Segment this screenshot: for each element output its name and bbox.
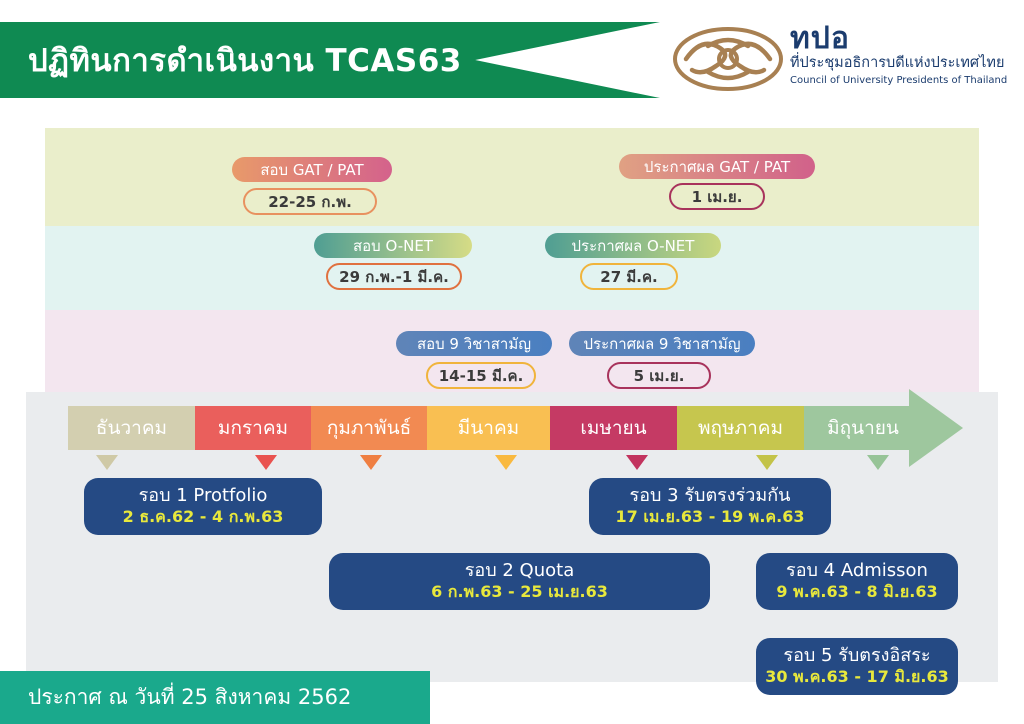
page-title: ปฏิทินการดำเนินงาน TCAS63: [28, 22, 462, 98]
event-pill-exam-nine-subjects: สอบ 9 วิชาสามัญ: [396, 331, 552, 356]
event-label: ประกาศผล 9 วิชาสามัญ: [584, 332, 741, 356]
event-date-exam-onet: 29 ก.พ.-1 มี.ค.: [326, 263, 462, 290]
month-segment-march: มีนาคม: [427, 406, 550, 450]
month-label: เมษายน: [580, 413, 646, 443]
event-date-result-onet: 27 มี.ค.: [580, 263, 678, 290]
month-label: มิถุนายน: [827, 413, 899, 443]
event-pill-exam-gat-pat: สอบ GAT / PAT: [232, 157, 392, 182]
event-date-text: 5 เม.ย.: [634, 364, 685, 388]
event-date-text: 27 มี.ค.: [600, 265, 657, 289]
logo-english-name: Council of University Presidents of Thai…: [790, 74, 1002, 87]
event-date-text: 22-25 ก.พ.: [268, 190, 352, 214]
infographic-canvas: ปฏิทินการดำเนินงาน TCAS63 ทปอ ที่ประชุมอ…: [0, 0, 1024, 724]
month-label: มีนาคม: [458, 413, 519, 443]
event-pill-result-nine-subjects: ประกาศผล 9 วิชาสามัญ: [569, 331, 755, 356]
event-label: สอบ O-NET: [353, 234, 433, 258]
round-date: 2 ธ.ค.62 - 4 ก.พ.63: [123, 507, 284, 528]
month-marker-february: [360, 455, 382, 470]
event-date-result-gat-pat: 1 เม.ย.: [669, 183, 765, 210]
month-timeline: ธันวาคม มกราคม กุมภาพันธ์ มีนาคม เมษายน …: [68, 406, 922, 450]
event-pill-result-gat-pat: ประกาศผล GAT / PAT: [619, 154, 815, 179]
logo-text-block: ทปอ ที่ประชุมอธิการบดีแห่งประเทศไทย Coun…: [790, 24, 1002, 87]
cupt-knot-logo-icon: [672, 26, 784, 92]
event-label: ประกาศผล GAT / PAT: [644, 155, 790, 179]
round-box-1[interactable]: รอบ 1 Protfolio 2 ธ.ค.62 - 4 ก.พ.63: [84, 478, 322, 535]
round-date: 6 ก.พ.63 - 25 เม.ย.63: [431, 582, 608, 603]
round-title: รอบ 2 Quota: [465, 560, 574, 583]
band-onet: [45, 226, 979, 310]
event-label: สอบ 9 วิชาสามัญ: [417, 332, 531, 356]
round-title: รอบ 5 รับตรงอิสระ: [783, 645, 930, 668]
logo-abbr: ทปอ: [790, 24, 1002, 54]
event-label: สอบ GAT / PAT: [260, 158, 363, 182]
round-title: รอบ 1 Protfolio: [139, 485, 268, 508]
month-segment-february: กุมภาพันธ์: [311, 406, 427, 450]
month-label: มกราคม: [218, 413, 288, 443]
event-date-exam-gat-pat: 22-25 ก.พ.: [243, 188, 377, 215]
round-box-3[interactable]: รอบ 3 รับตรงร่วมกัน 17 เม.ย.63 - 19 พ.ค.…: [589, 478, 831, 535]
month-label: กุมภาพันธ์: [327, 413, 411, 443]
event-label: ประกาศผล O-NET: [572, 234, 695, 258]
footer-announcement-text: ประกาศ ณ วันที่ 25 สิงหาคม 2562: [28, 671, 351, 724]
round-date: 9 พ.ค.63 - 8 มิ.ย.63: [776, 582, 937, 603]
round-box-5[interactable]: รอบ 5 รับตรงอิสระ 30 พ.ค.63 - 17 มิ.ย.63: [756, 638, 958, 695]
month-label: พฤษภาคม: [698, 413, 783, 443]
month-segment-june: มิถุนายน: [804, 406, 922, 450]
month-marker-may: [756, 455, 778, 470]
round-title: รอบ 3 รับตรงร่วมกัน: [630, 485, 791, 508]
event-date-text: 29 ก.พ.-1 มี.ค.: [339, 265, 449, 289]
month-segment-december: ธันวาคม: [68, 406, 195, 450]
month-segment-january: มกราคม: [195, 406, 311, 450]
event-date-text: 14-15 มี.ค.: [439, 364, 524, 388]
event-date-exam-nine-subjects: 14-15 มี.ค.: [426, 362, 536, 389]
round-box-4[interactable]: รอบ 4 Admisson 9 พ.ค.63 - 8 มิ.ย.63: [756, 553, 958, 610]
round-date: 30 พ.ค.63 - 17 มิ.ย.63: [765, 667, 948, 688]
round-box-2[interactable]: รอบ 2 Quota 6 ก.พ.63 - 25 เม.ย.63: [329, 553, 710, 610]
event-pill-exam-onet: สอบ O-NET: [314, 233, 472, 258]
event-date-text: 1 เม.ย.: [692, 185, 743, 209]
event-pill-result-onet: ประกาศผล O-NET: [545, 233, 721, 258]
month-marker-december: [96, 455, 118, 470]
month-segment-april: เมษายน: [550, 406, 677, 450]
month-marker-january: [255, 455, 277, 470]
round-title: รอบ 4 Admisson: [786, 560, 928, 583]
month-segment-may: พฤษภาคม: [677, 406, 804, 450]
month-marker-june: [867, 455, 889, 470]
band-gat-pat: [45, 128, 979, 226]
month-label: ธันวาคม: [96, 413, 167, 443]
round-date: 17 เม.ย.63 - 19 พ.ค.63: [616, 507, 805, 528]
event-date-result-nine-subjects: 5 เม.ย.: [607, 362, 711, 389]
logo-thai-name: ที่ประชุมอธิการบดีแห่งประเทศไทย: [790, 54, 1002, 74]
month-marker-april: [626, 455, 648, 470]
month-marker-march: [495, 455, 517, 470]
cupt-logo: ทปอ ที่ประชุมอธิการบดีแห่งประเทศไทย Coun…: [672, 24, 1002, 98]
